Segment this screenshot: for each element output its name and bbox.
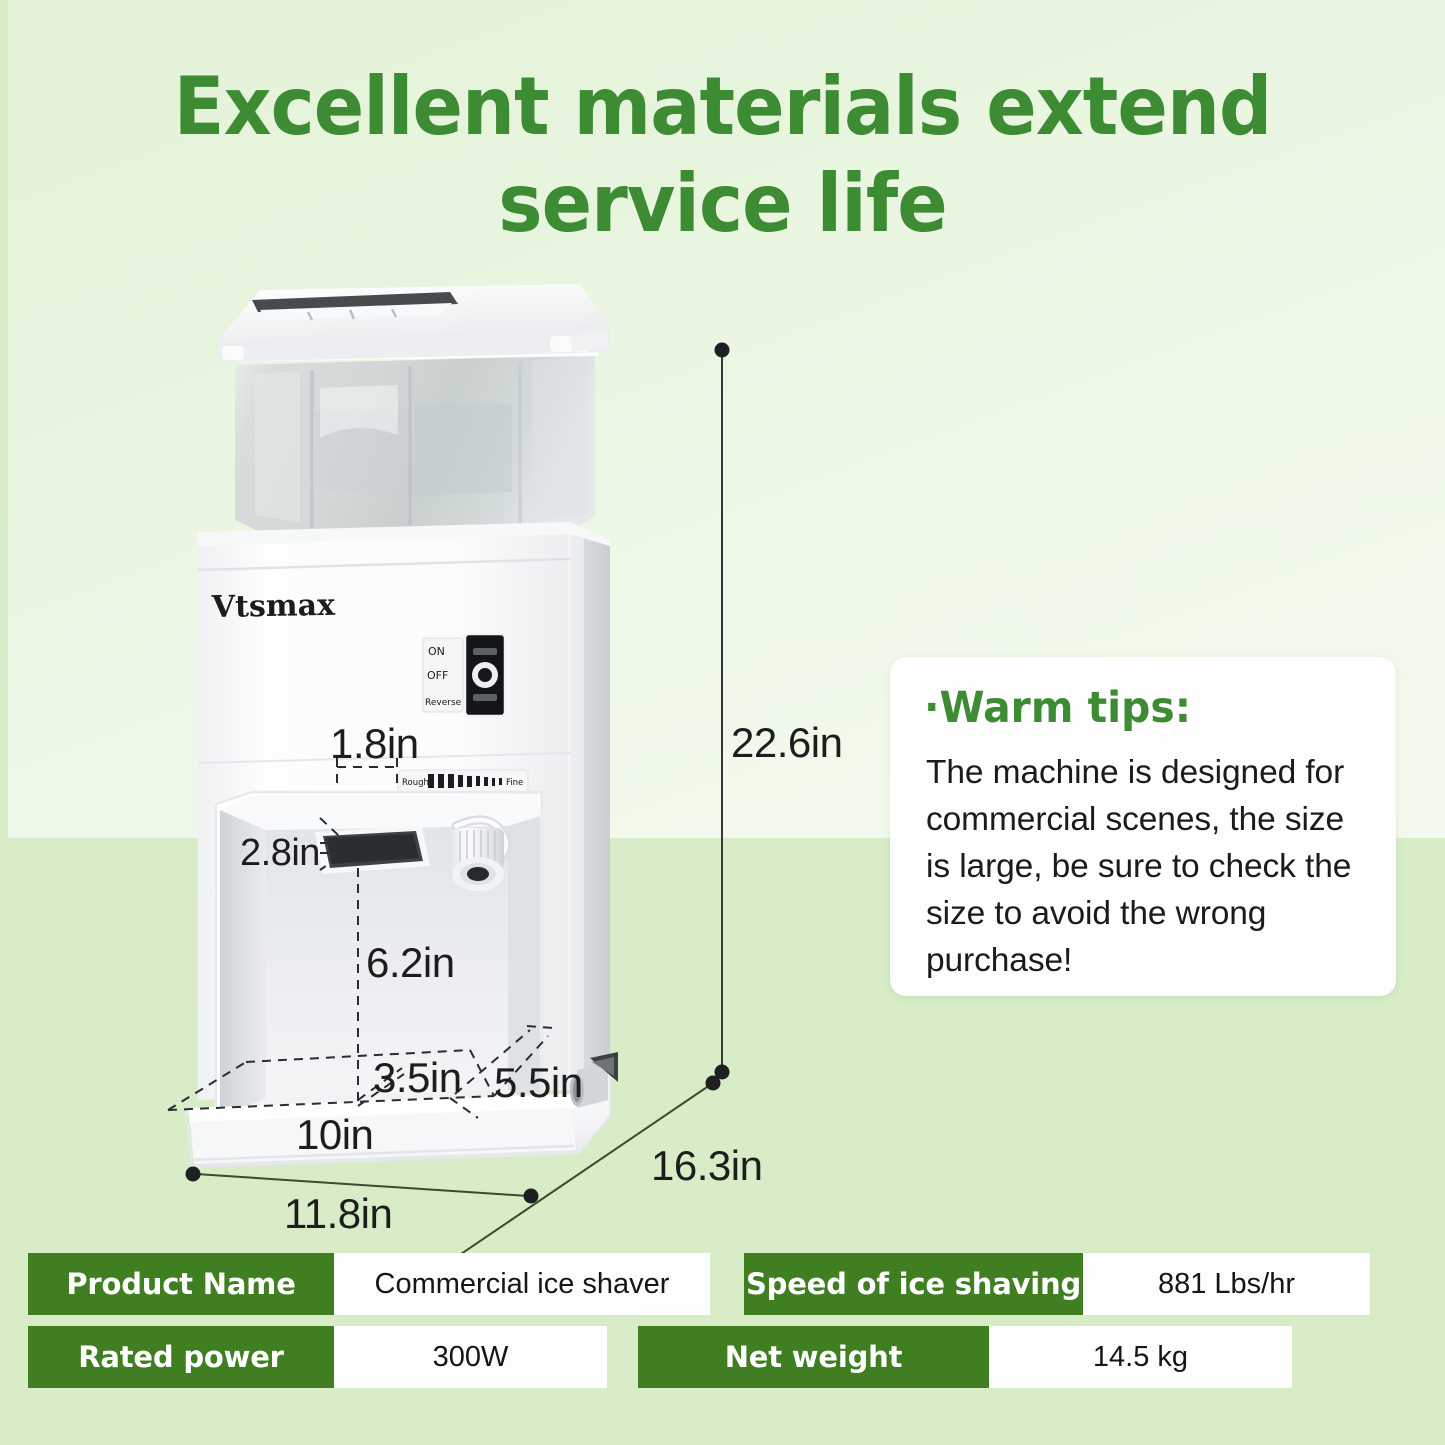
warm-tips-card: ·Warm tips: The machine is designed for … — [890, 657, 1396, 996]
dimension-label-height: 22.6in — [731, 722, 842, 764]
dimension-label-tray-width: 10in — [296, 1114, 373, 1156]
dimension-label-base-depth: 16.3in — [651, 1145, 762, 1187]
dimension-label-cavity-height: 6.2in — [366, 942, 455, 984]
dimension-label-tray-diagonal: 5.5in — [494, 1062, 583, 1104]
spec-label-rated-power: Rated power — [28, 1326, 334, 1388]
spec-value-product-name: Commercial ice shaver — [334, 1253, 710, 1315]
dimension-label-nozzle-depth: 2.8in — [240, 832, 320, 874]
spec-label-speed: Speed of ice shaving — [744, 1253, 1083, 1315]
dimension-label-chute-width: 1.8in — [330, 723, 419, 765]
guide-nozzle-depth — [318, 818, 352, 870]
spec-value-speed: 881 Lbs/hr — [1083, 1253, 1370, 1315]
warm-tips-title: ·Warm tips: — [924, 683, 1191, 733]
spec-value-net-weight: 14.5 kg — [989, 1326, 1292, 1388]
warm-tips-body: The machine is designed for commercial s… — [926, 749, 1376, 984]
guide-height — [715, 343, 730, 1080]
spec-label-product-name: Product Name — [28, 1253, 334, 1315]
spec-label-net-weight: Net weight — [638, 1326, 989, 1388]
dimension-label-base-width: 11.8in — [284, 1193, 392, 1235]
spec-value-rated-power: 300W — [334, 1326, 607, 1388]
dimension-label-cavity-depth: 3.5in — [373, 1057, 462, 1099]
infographic-page: Excellent materials extend service life — [0, 0, 1445, 1445]
